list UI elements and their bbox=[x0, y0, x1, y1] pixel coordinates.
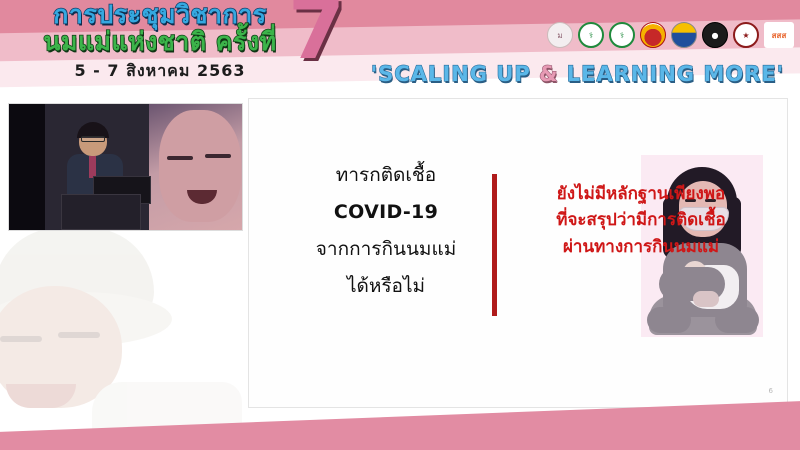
slide-presentation-screen: การประชุมวิชาการ นมแม่แห่งชาติ ครั้งที่ … bbox=[0, 0, 800, 450]
conference-date: 5 - 7 สิงหาคม 2563 bbox=[10, 59, 310, 84]
speaker-tie bbox=[89, 156, 96, 178]
slide-page-number: 6 bbox=[769, 387, 773, 395]
logo-black-seal-icon: ● bbox=[702, 22, 728, 48]
conference-title-line2: นมแม่แห่งชาติ ครั้งที่ bbox=[10, 29, 310, 54]
baby-eye-left bbox=[0, 336, 42, 342]
logo-ministry-public-health-icon: ⚕ bbox=[578, 22, 604, 48]
speaker-video-feed[interactable] bbox=[9, 104, 242, 230]
question-line-2: COVID-19 bbox=[281, 194, 491, 231]
tagline-part2: LEARNING MORE' bbox=[558, 62, 784, 86]
vertical-divider-bar bbox=[492, 174, 497, 316]
answer-line-3: ผ่านทางการกินนมแม่ bbox=[507, 234, 775, 260]
question-line-1: ทารกติดเชื้อ bbox=[281, 157, 491, 194]
conference-edition-number: 7 bbox=[288, 0, 345, 72]
speaker-glasses bbox=[81, 136, 105, 142]
podium bbox=[61, 194, 141, 230]
video-dark-edge bbox=[9, 104, 45, 230]
mother-hand bbox=[693, 291, 719, 307]
question-text-block: ทารกติดเชื้อ COVID-19 จากการกินนมแม่ ได้… bbox=[281, 157, 491, 305]
question-line-3: จากการกินนมแม่ bbox=[281, 231, 491, 268]
question-line-4: ได้หรือไม่ bbox=[281, 268, 491, 305]
tagline-part1: 'SCALING UP bbox=[371, 62, 539, 86]
projected-baby-image bbox=[159, 110, 241, 222]
sponsor-logo-row: ม ⚕ ⚕ ● ★ สสส bbox=[547, 22, 794, 48]
background-baby-photo bbox=[0, 232, 250, 422]
baby-eye-right bbox=[58, 332, 100, 338]
projected-baby-eye-left bbox=[167, 156, 193, 160]
answer-text-block: ยังไม่มีหลักฐานเพียงพอ ที่จะสรุปว่ามีการ… bbox=[507, 181, 775, 260]
logo-department-health-icon: ⚕ bbox=[609, 22, 635, 48]
logo-royal-crest-icon bbox=[671, 22, 697, 48]
logo-phrathep-foundation-icon: ม bbox=[547, 22, 573, 48]
conference-header-banner: การประชุมวิชาการ นมแม่แห่งชาติ ครั้งที่ … bbox=[0, 0, 800, 98]
tagline-ampersand: & bbox=[539, 62, 558, 86]
logo-thaihealth-sss-icon: สสส bbox=[764, 22, 794, 48]
conference-title-block: การประชุมวิชาการ นมแม่แห่งชาติ ครั้งที่ … bbox=[10, 2, 310, 84]
slide-content-panel: ทารกติดเชื้อ COVID-19 จากการกินนมแม่ ได้… bbox=[248, 98, 788, 408]
conference-title-line1: การประชุมวิชาการ bbox=[10, 2, 310, 27]
logo-royal-emblem-icon bbox=[640, 22, 666, 48]
projected-baby-eye-right bbox=[205, 154, 231, 158]
answer-line-1: ยังไม่มีหลักฐานเพียงพอ bbox=[507, 181, 775, 207]
conference-tagline: 'SCALING UP & LEARNING MORE' bbox=[360, 62, 795, 86]
logo-red-seal-icon: ★ bbox=[733, 22, 759, 48]
answer-line-2: ที่จะสรุปว่ามีการติดเชื้อ bbox=[507, 207, 775, 233]
